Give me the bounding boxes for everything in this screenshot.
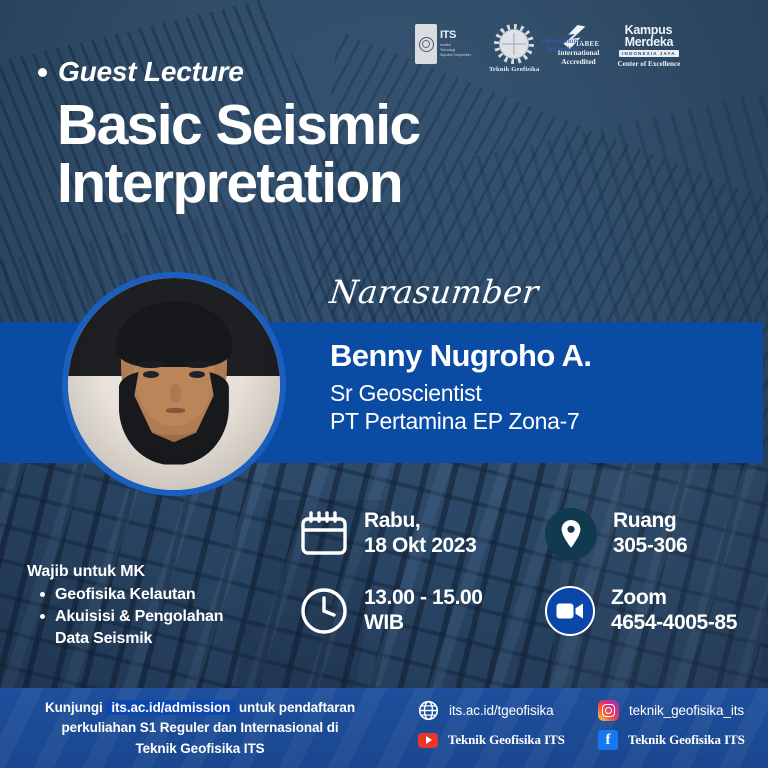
iabee-ghost-caption: InternationalAccredited <box>541 37 583 54</box>
event-zoom: Zoom 4654-4005-85 <box>545 586 737 636</box>
video-camera-icon <box>556 602 584 620</box>
speaker-role-line-2: PT Pertamina EP Zona-7 <box>330 407 760 436</box>
admission-url-link[interactable]: its.ac.id/admission <box>106 700 235 715</box>
event-zoom-line-2: 4654-4005-85 <box>611 611 737 636</box>
event-room-line-1: Ruang <box>613 509 687 534</box>
globe-icon <box>418 700 439 721</box>
kicker-label: Guest Lecture <box>58 56 244 88</box>
speaker-name: Benny Nugroho A. <box>330 338 760 374</box>
speaker-info: Benny Nugroho A. Sr Geoscientist PT Pert… <box>330 338 760 436</box>
gear-globe-icon <box>494 24 534 64</box>
youtube-icon <box>418 733 438 748</box>
social-youtube[interactable]: Teknik Geofisika ITS <box>418 730 598 750</box>
center-of-excellence-caption: Center of Excellence <box>617 60 680 68</box>
event-room: Ruang 305-306 <box>545 508 687 560</box>
page-title: Basic Seismic Interpretation <box>57 96 617 212</box>
social-instagram[interactable]: teknik_geofisika_its <box>598 700 768 721</box>
event-details: Rabu, 18 Okt 2023 Ruang 305-306 <box>300 508 760 662</box>
calendar-icon <box>300 510 348 558</box>
social-youtube-label: Teknik Geofisika ITS <box>448 732 565 748</box>
cta-text-after: untuk pendaftaran <box>239 700 355 715</box>
clock-icon <box>300 587 348 635</box>
admission-cta: Kunjungi its.ac.id/admission untuk penda… <box>14 698 386 759</box>
social-instagram-label: teknik_geofisika_its <box>629 703 744 718</box>
speaker-avatar <box>62 272 286 496</box>
event-zoom-line-1: Zoom <box>611 586 737 611</box>
event-room-line-2: 305-306 <box>613 534 687 559</box>
instagram-icon <box>598 700 619 721</box>
logo-strip: ITS InstitutTeknologiSepuluh Nopember Te… <box>415 24 680 73</box>
narasumber-label: Narasumber <box>328 273 541 311</box>
its-wordmark: ITS <box>440 30 471 41</box>
kampus-merdeka-logo: Kampus Merdeka INDONESIA JAYA Center of … <box>617 24 680 68</box>
list-item: Akuisisi & Pengolahan <box>27 606 289 628</box>
bullet-dot-icon <box>38 68 47 77</box>
event-date-line-2: 18 Okt 2023 <box>364 534 476 559</box>
social-website-label: its.ac.id/tgeofisika <box>449 703 554 718</box>
iabee-logo: IABEE InternationalAccredited Internatio… <box>557 24 599 66</box>
list-item: Geofisika Kelautan <box>27 584 289 606</box>
event-time-line-2: WIB <box>364 611 483 636</box>
zoom-badge <box>545 586 595 636</box>
cta-text-before: Kunjungi <box>45 700 103 715</box>
event-time: 13.00 - 15.00 WIB <box>300 586 515 636</box>
its-logo: ITS InstitutTeknologiSepuluh Nopember <box>415 24 471 64</box>
location-pin-badge <box>545 508 597 560</box>
teknik-geofisika-caption: Teknik Geofisika <box>489 66 539 73</box>
cta-line-3: Teknik Geofisika ITS <box>135 741 264 756</box>
kicker: Guest Lecture <box>38 56 244 88</box>
speaker-role-line-1: Sr Geoscientist <box>330 379 760 408</box>
location-pin-icon <box>559 519 583 549</box>
event-details-row-2: 13.00 - 15.00 WIB Zoom 4654-4005-85 <box>300 586 760 636</box>
title-line-2: Interpretation <box>57 154 617 212</box>
event-details-row-1: Rabu, 18 Okt 2023 Ruang 305-306 <box>300 508 760 560</box>
event-time-line-1: 13.00 - 15.00 <box>364 586 483 611</box>
title-line-1: Basic Seismic <box>57 93 420 157</box>
its-shield-icon <box>415 24 437 64</box>
required-courses: Wajib untuk MK Geofisika Kelautan Akuisi… <box>27 563 289 650</box>
its-subtext: InstitutTeknologiSepuluh Nopember <box>440 43 471 58</box>
social-website[interactable]: its.ac.id/tgeofisika <box>418 700 598 721</box>
social-facebook[interactable]: f Teknik Geofisika ITS <box>598 730 768 750</box>
event-date-line-1: Rabu, <box>364 509 476 534</box>
social-links: its.ac.id/tgeofisika teknik_geofisika_it… <box>418 700 758 750</box>
poster-canvas: ITS InstitutTeknologiSepuluh Nopember Te… <box>0 0 768 768</box>
list-item-continuation: Data Seismik <box>27 628 289 650</box>
facebook-icon: f <box>598 730 618 750</box>
event-date: Rabu, 18 Okt 2023 <box>300 508 515 560</box>
teknik-geofisika-logo: Teknik Geofisika <box>489 24 539 73</box>
required-courses-title: Wajib untuk MK <box>27 563 289 581</box>
social-facebook-label: Teknik Geofisika ITS <box>628 732 745 748</box>
kampus-merdeka-line2: Merdeka <box>625 35 674 49</box>
kampus-merdeka-bar: INDONESIA JAYA <box>619 50 678 57</box>
cta-line-2: perkuliahan S1 Reguler dan Internasional… <box>61 720 338 735</box>
footer: Kunjungi its.ac.id/admission untuk penda… <box>0 688 768 768</box>
